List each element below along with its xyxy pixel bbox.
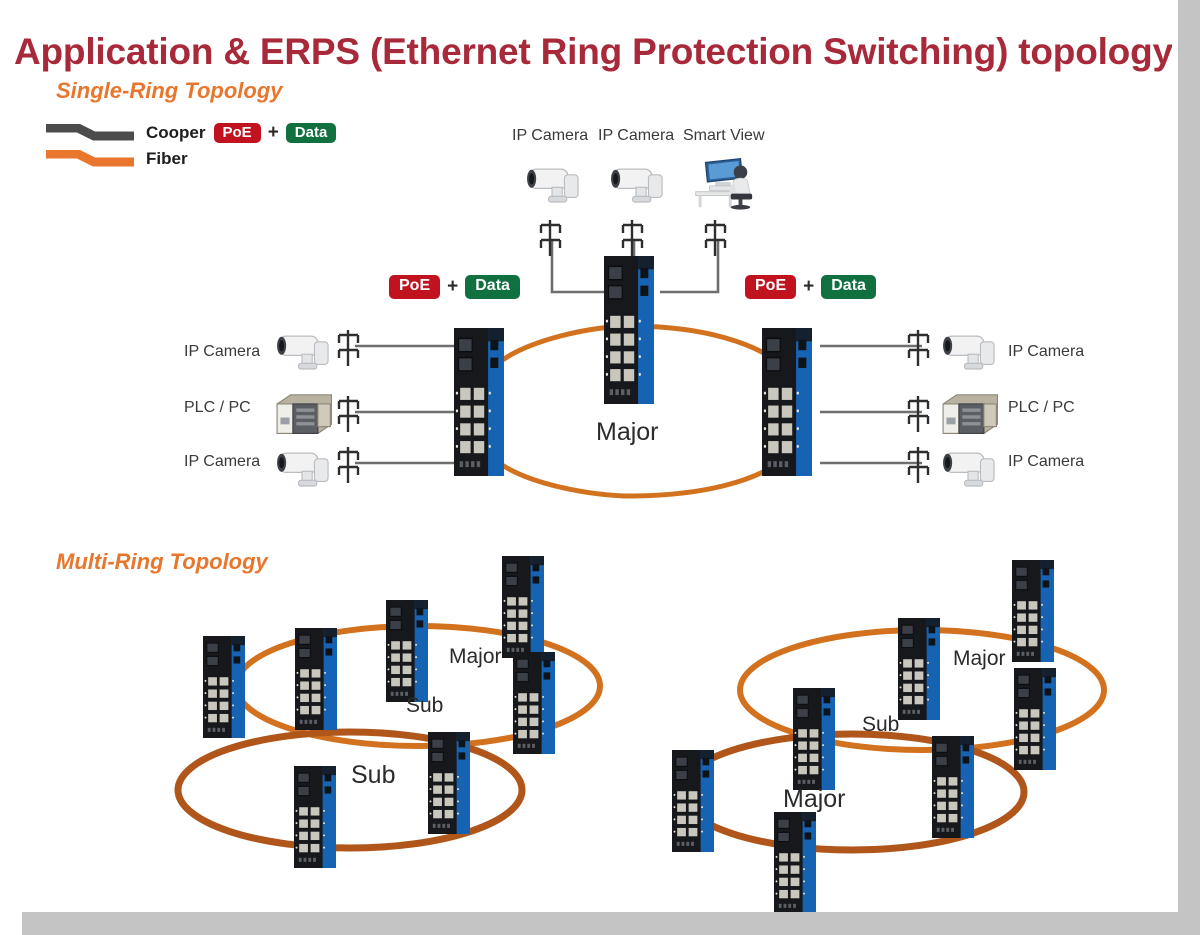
data-badge: Data: [465, 275, 520, 299]
ip-camera-icon: [277, 453, 328, 486]
right-border-strip: [1178, 0, 1200, 912]
ip-camera-icon: [943, 453, 994, 486]
plc-pc-icon: [277, 395, 331, 434]
fiber-ring-lower-left: [178, 732, 522, 848]
multi-ring-left-cluster: [178, 556, 600, 868]
node-label-top-ip-camera-2: IP Camera: [598, 127, 674, 145]
node-label-right-plc-pc: PLC / PC: [1008, 399, 1075, 417]
section-title-multi-ring: Multi-Ring Topology: [56, 549, 268, 575]
poe-badge: PoE: [745, 275, 796, 299]
switch-device-right: [762, 328, 812, 476]
node-label-left-ip-camera-1: IP Camera: [184, 343, 260, 361]
ip-camera-icon: [277, 336, 328, 369]
legend-label-copper: Cooper: [146, 123, 206, 143]
fiber-line-swatch: [44, 150, 136, 168]
data-badge: Data: [286, 123, 337, 144]
ring-label-right-sub: Sub: [862, 713, 899, 737]
node-label-top-smart-view: Smart View: [683, 127, 765, 145]
switch-device-left: [454, 328, 504, 476]
badge-pair-right: PoE + Data: [745, 275, 876, 299]
poe-badge: PoE: [214, 123, 261, 144]
ring-label-center-major: Major: [596, 418, 659, 447]
copper-line-swatch: [44, 124, 136, 142]
legend-row-copper: Cooper PoE + Data: [44, 120, 336, 146]
ip-camera-icon: [611, 169, 662, 202]
single-ring-left-copper: [355, 346, 458, 463]
connector-glyphs-top: [541, 220, 725, 256]
ring-label-left-sub-1: Sub: [406, 694, 443, 718]
badge-pair-left: PoE + Data: [389, 275, 520, 299]
smart-view-icon: [696, 159, 752, 210]
ring-label-left-major: Major: [449, 645, 502, 669]
node-label-right-ip-camera-1: IP Camera: [1008, 343, 1084, 361]
multi-ring-right-cluster: [672, 560, 1104, 914]
single-ring-right-copper: [820, 346, 922, 463]
ip-camera-icon: [527, 169, 578, 202]
ring-label-left-sub-2: Sub: [351, 761, 395, 790]
connector-glyphs-left: [339, 330, 358, 483]
ring-label-right-major-2: Major: [783, 785, 846, 814]
plus-sign: +: [447, 276, 458, 298]
plus-sign: +: [803, 276, 814, 298]
data-badge: Data: [821, 275, 876, 299]
plus-sign: +: [268, 122, 279, 144]
switch-device-major: [604, 256, 654, 404]
node-label-right-ip-camera-2: IP Camera: [1008, 453, 1084, 471]
ip-camera-icon: [943, 336, 994, 369]
plc-pc-icon: [943, 395, 997, 434]
node-label-top-ip-camera-1: IP Camera: [512, 127, 588, 145]
slide-canvas: Application & ERPS (Ethernet Ring Protec…: [0, 0, 1200, 935]
legend-label-fiber: Fiber: [146, 149, 188, 169]
section-title-single-ring: Single-Ring Topology: [56, 78, 283, 104]
poe-badge: PoE: [389, 275, 440, 299]
node-label-left-plc-pc: PLC / PC: [184, 399, 251, 417]
legend: Cooper PoE + Data Fiber: [44, 120, 336, 172]
page-title: Application & ERPS (Ethernet Ring Protec…: [14, 31, 1174, 73]
connector-glyphs-right: [909, 330, 928, 483]
node-label-left-ip-camera-2: IP Camera: [184, 453, 260, 471]
ring-label-right-major-1: Major: [953, 647, 1006, 671]
legend-row-fiber: Fiber: [44, 146, 336, 172]
bottom-border-strip: [22, 912, 1200, 935]
